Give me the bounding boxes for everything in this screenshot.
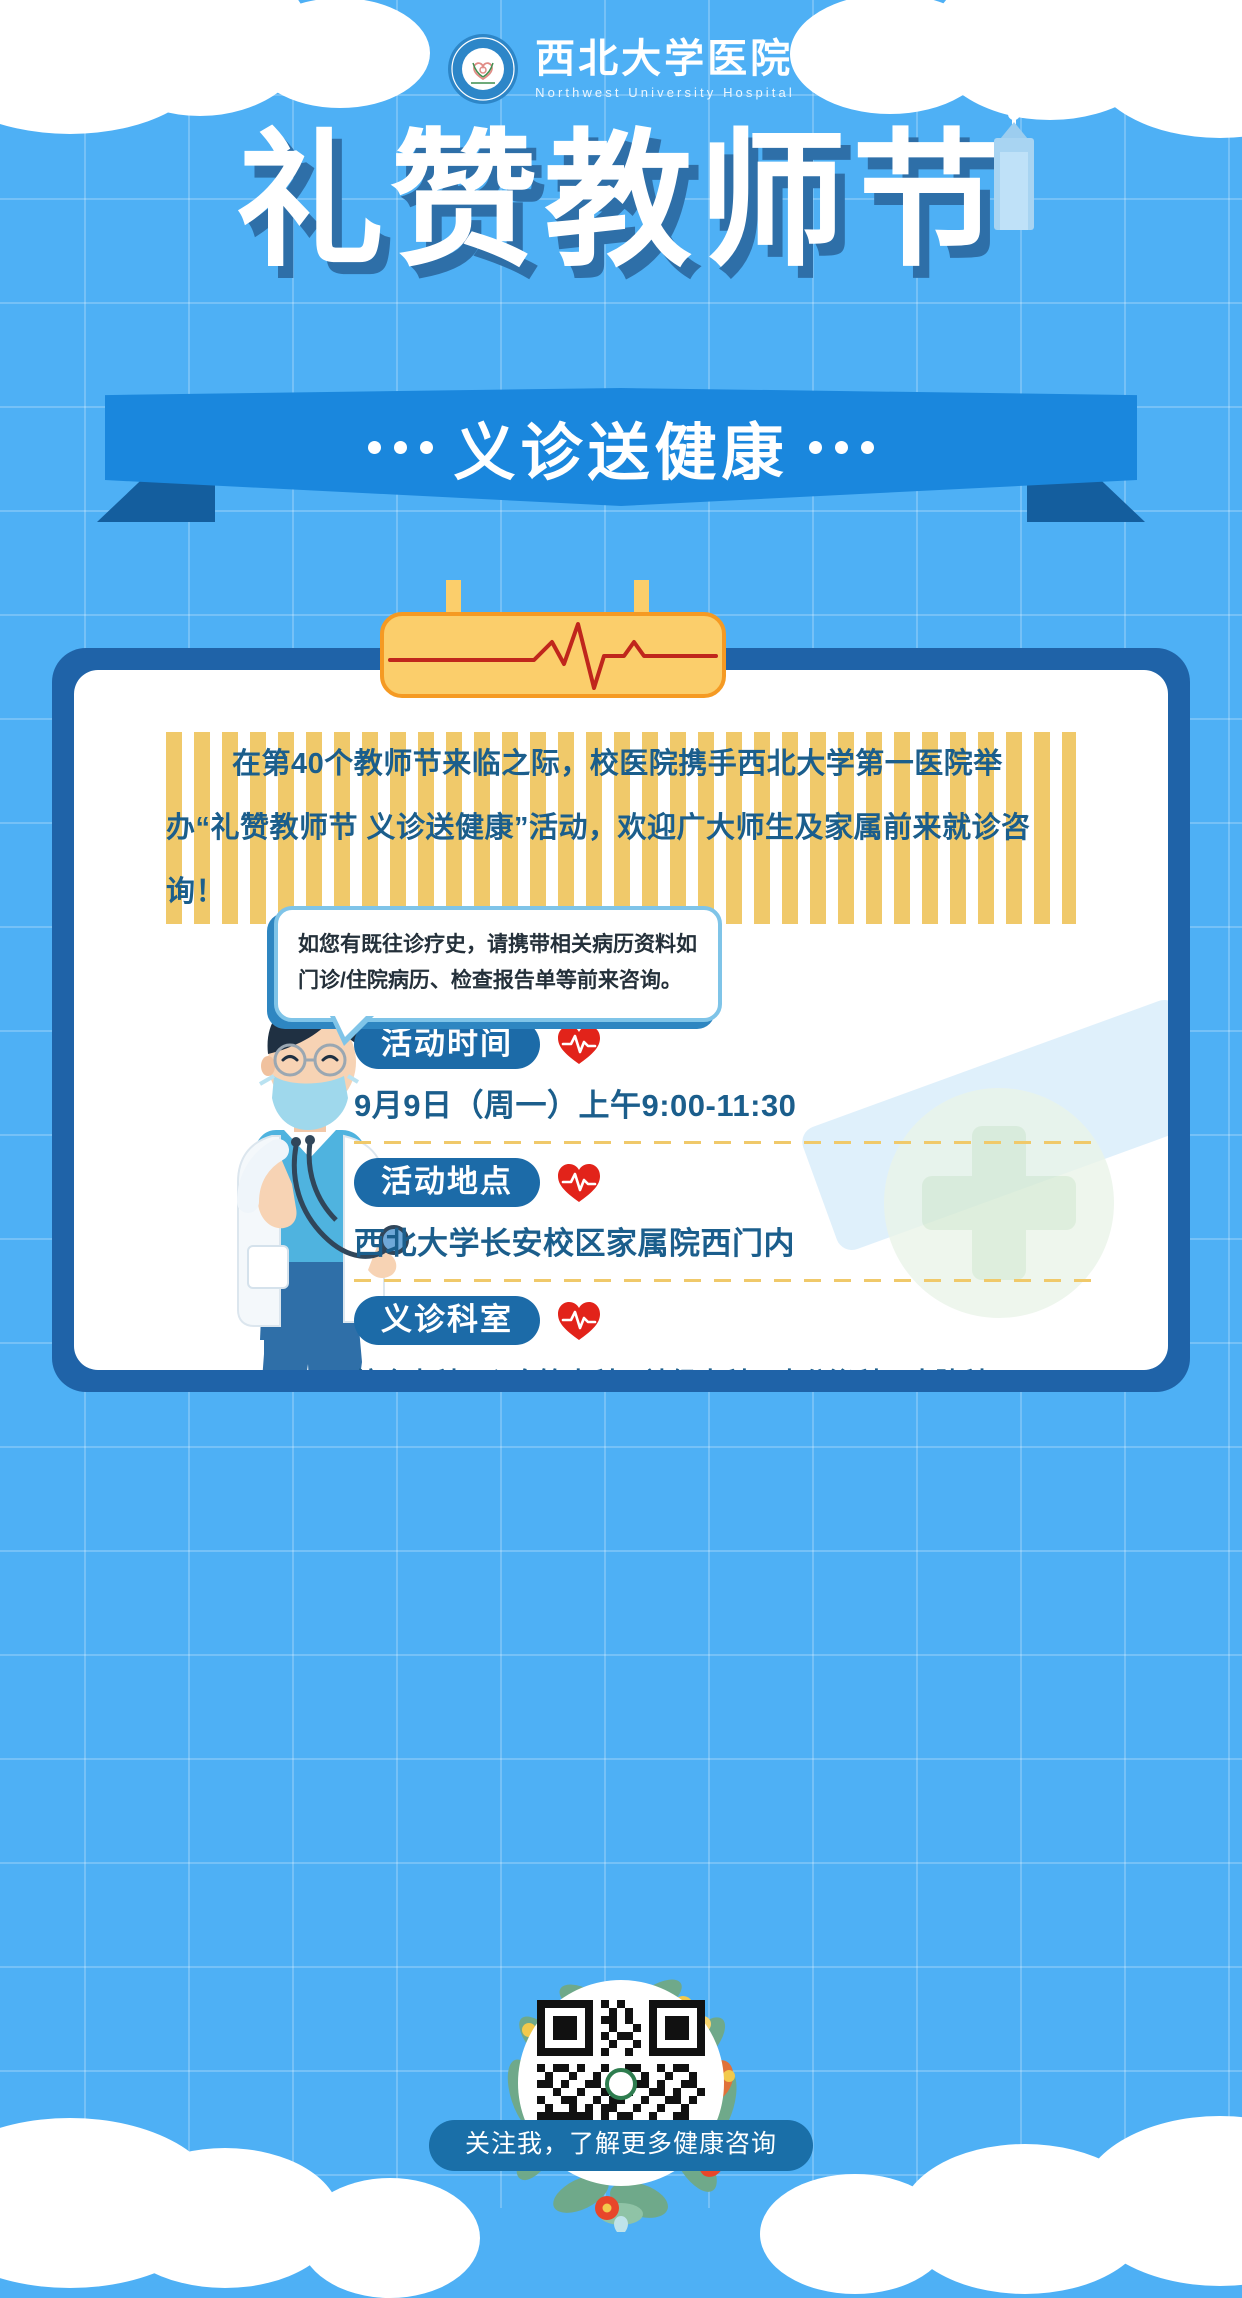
department-list: 综合内科、心血管内科、神经内科、内分泌科、皮肤科 普通外科、耳鼻咽喉头颈外科、骨…	[354, 1355, 1094, 1370]
clipboard-frame: 在第40个教师节来临之际，校医院携手西北大学第一医院举办“礼赞教师节 义诊送健康…	[52, 648, 1190, 1392]
ribbon-label: 义诊送健康	[453, 402, 788, 492]
value-activity-time: 9月9日（周一）上午9:00-11:30	[354, 1079, 1094, 1137]
qr-center-logo	[605, 2068, 637, 2100]
ribbon-dots-right	[809, 441, 874, 454]
badge-activity-time: 活动时间	[354, 1020, 540, 1069]
ribbon-dots-left	[368, 441, 433, 454]
divider-dashed	[354, 1141, 1094, 1144]
poster-header: 西北大学医院 Northwest University Hospital	[0, 26, 1242, 112]
hospital-name-english: Northwest University Hospital	[535, 85, 795, 100]
info-section: 活动时间 9月9日（周一）上午9:00-11:30 活动地点	[354, 1020, 1094, 1370]
follow-cta-pill[interactable]: 关注我，了解更多健康咨询	[429, 2120, 813, 2171]
notice-speech-bubble: 如您有既往诊疗史，请携带相关病历资料如门诊/住院病历、检查报告单等前来咨询。	[274, 906, 722, 1022]
hospital-seal-logo	[447, 33, 519, 105]
page-title: 礼赞教师节	[236, 128, 1006, 276]
badge-clinic-departments: 义诊科室	[354, 1296, 540, 1345]
info-block-time: 活动时间 9月9日（周一）上午9:00-11:30	[354, 1020, 1094, 1144]
hospital-name: 西北大学医院	[535, 38, 795, 80]
divider-dashed	[354, 1279, 1094, 1282]
bell-tower-icon	[986, 112, 1042, 230]
bubble-tail-fill	[334, 1014, 368, 1037]
heartbeat-heart-icon	[556, 1300, 602, 1342]
notice-text: 如您有既往诊疗史，请携带相关病历资料如门诊/住院病历、检查报告单等前来咨询。	[298, 927, 698, 999]
clipboard-content: 在第40个教师节来临之际，校医院携手西北大学第一医院举办“礼赞教师节 义诊送健康…	[74, 670, 1168, 1370]
intro-paragraph: 在第40个教师节来临之际，校医院携手西北大学第一医院举办“礼赞教师节 义诊送健康…	[166, 732, 1076, 924]
heartbeat-heart-icon	[556, 1162, 602, 1204]
subtitle-ribbon: 义诊送健康	[105, 388, 1137, 512]
heartbeat-line-icon	[384, 616, 722, 694]
heartbeat-heart-icon	[556, 1024, 602, 1066]
info-block-departments: 义诊科室 综合内科、心血管内科、神经内科、内分泌科、皮肤科 普通外科、耳鼻咽喉头…	[354, 1296, 1094, 1370]
info-block-location: 活动地点 西北大学长安校区家属院西门内	[354, 1158, 1094, 1282]
department-line: 综合内科、心血管内科、神经内科、内分泌科、皮肤科	[354, 1355, 1094, 1370]
value-activity-location: 西北大学长安校区家属院西门内	[354, 1217, 1094, 1275]
intro-paragraph-block: 在第40个教师节来临之际，校医院携手西北大学第一医院举办“礼赞教师节 义诊送健康…	[166, 732, 1076, 924]
qr-code-block[interactable]	[471, 1946, 771, 2246]
main-title-area: 礼赞教师节	[0, 128, 1242, 276]
badge-activity-location: 活动地点	[354, 1158, 540, 1207]
clipboard-clip	[380, 612, 726, 698]
